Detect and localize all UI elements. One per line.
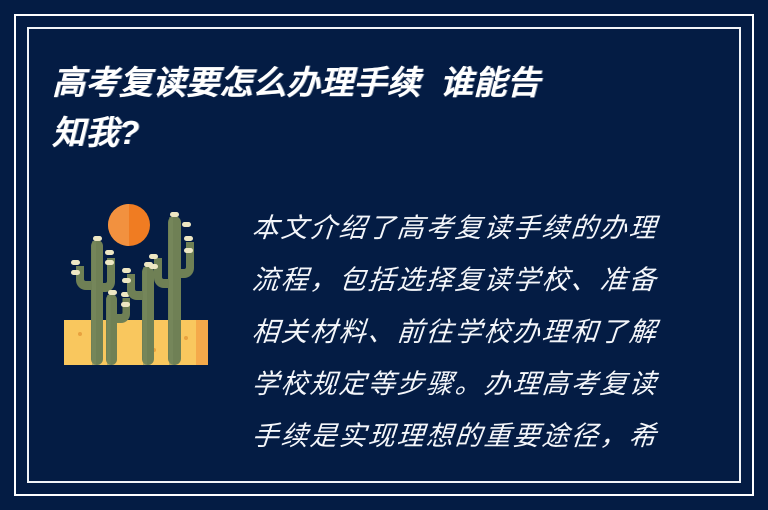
body-line-4: 学校规定等步骤。办理高考复读 bbox=[252, 359, 672, 411]
poster-canvas: 高考复读要怎么办理手续 谁能告 知我? bbox=[0, 0, 768, 510]
sand-ground bbox=[64, 320, 208, 365]
page-title: 高考复读要怎么办理手续 谁能告 知我? bbox=[52, 58, 712, 158]
body-line-3: 相关材料、前往学校办理和了解 bbox=[252, 307, 672, 359]
sun-icon bbox=[108, 204, 150, 246]
title-line-2: 知我? bbox=[52, 108, 712, 158]
desert-cactus-illustration bbox=[58, 198, 214, 370]
body-line-5: 手续是实现理想的重要途径，希 bbox=[252, 411, 672, 463]
body-text: 本文介绍了高考复读手续的办理 流程，包括选择复读学校、准备 相关材料、前往学校办… bbox=[252, 203, 672, 473]
title-line-1: 高考复读要怎么办理手续 谁能告 bbox=[52, 58, 712, 108]
body-line-1: 本文介绍了高考复读手续的办理 bbox=[252, 203, 672, 255]
body-line-2: 流程，包括选择复读学校、准备 bbox=[252, 255, 672, 307]
